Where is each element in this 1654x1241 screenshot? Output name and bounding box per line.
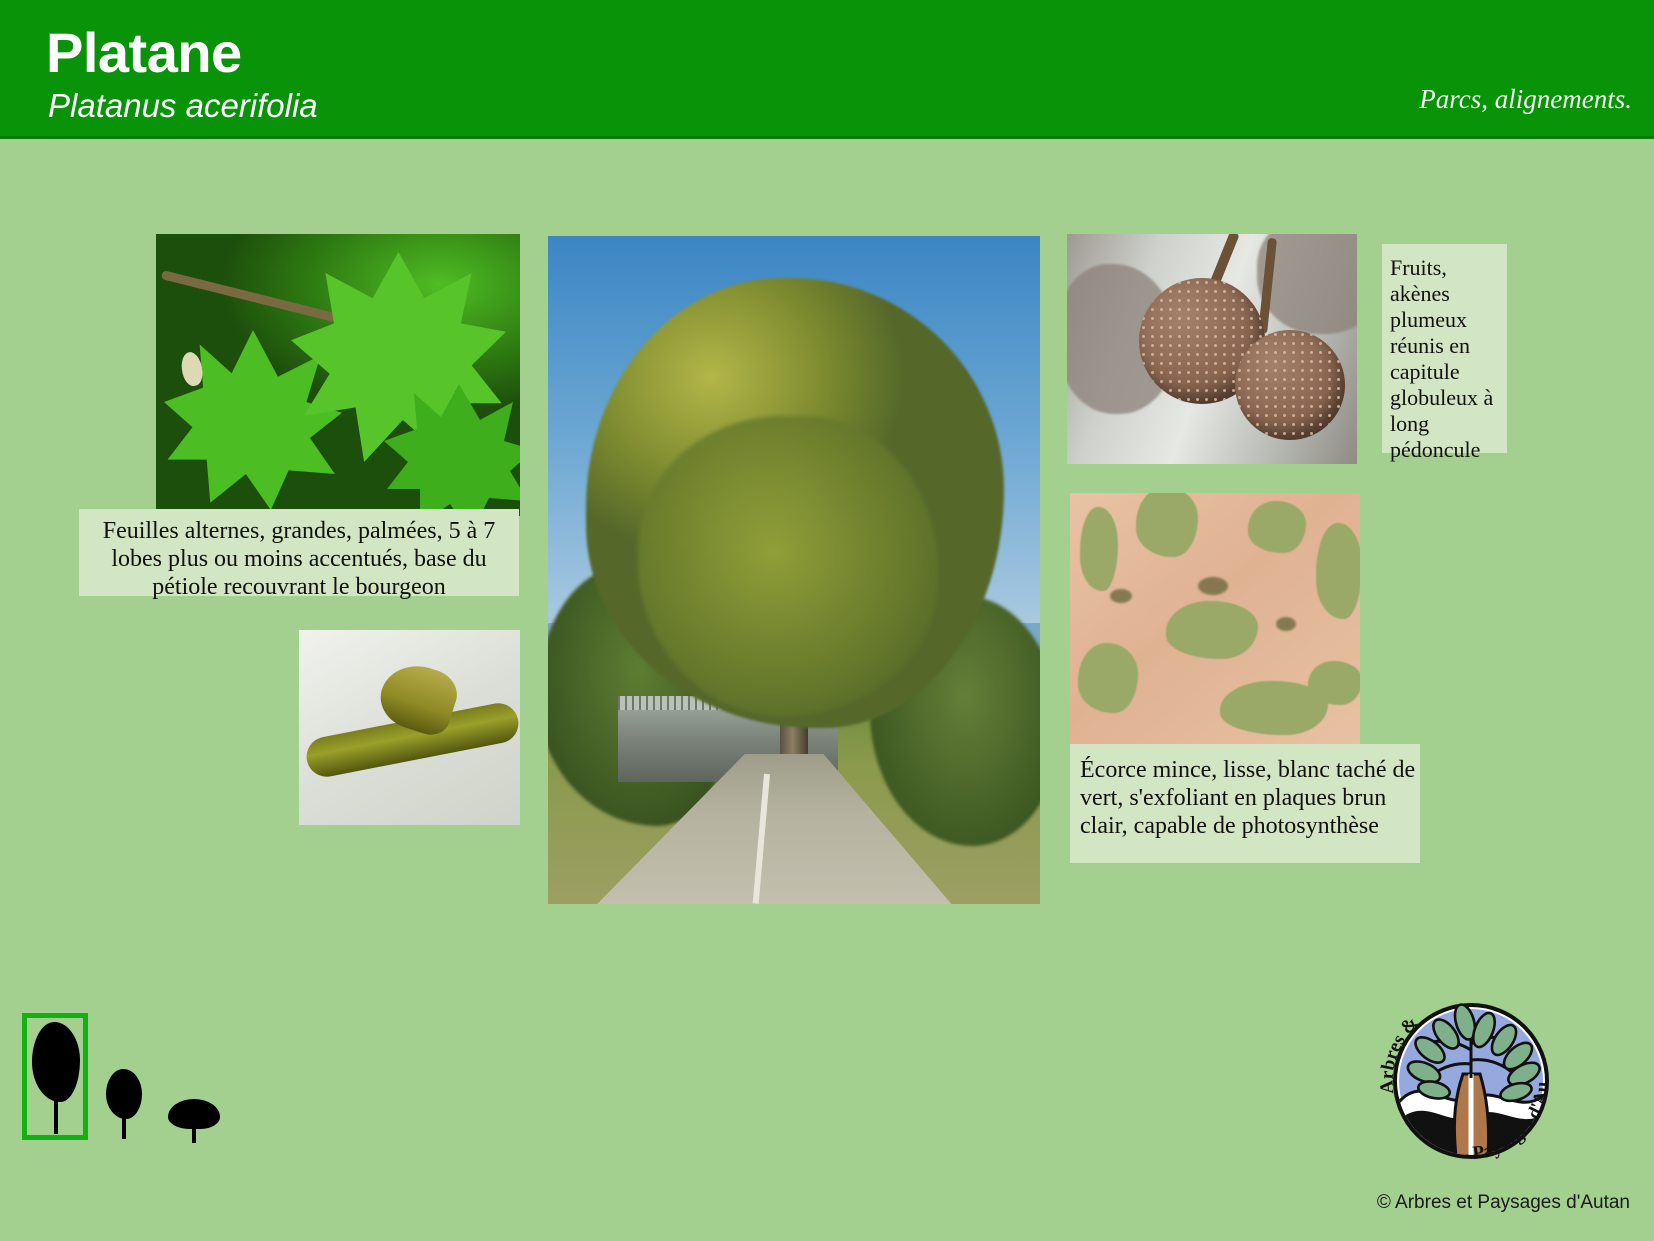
latin-name: Platanus acerifolia	[48, 88, 318, 124]
bark-green-patch	[1248, 501, 1306, 553]
fruits-caption: Fruits, akènes plumeux réunis en capitul…	[1382, 244, 1507, 453]
tree-photo	[548, 236, 1040, 904]
bud-photo	[299, 630, 520, 825]
bark-green-patch	[1166, 601, 1258, 659]
bark-dark-speck	[1198, 577, 1228, 595]
bark-photo	[1070, 493, 1360, 749]
copyright-notice: © Arbres et Paysages d'Autan	[1377, 1192, 1630, 1214]
logo-graphic: Arbres & Paysages d'Autan	[1368, 978, 1574, 1184]
tree-stem-shape	[122, 1115, 126, 1139]
bark-dark-speck	[1276, 617, 1296, 631]
tree-crown-shape	[106, 1069, 142, 1119]
bark-green-patch	[1308, 661, 1360, 705]
page-header: Platane Platanus acerifolia Parcs, align…	[0, 0, 1654, 139]
fruit-capitule	[1235, 330, 1345, 440]
bark-caption: Écorce mince, lisse, blanc taché de vert…	[1070, 744, 1420, 863]
bark-green-patch	[1078, 643, 1138, 713]
leaf-caption: Feuilles alternes, grandes, palmées, 5 à…	[79, 509, 519, 596]
bark-green-patch	[1080, 507, 1118, 591]
leaf-photo	[156, 234, 520, 516]
size-class-indicator	[22, 1013, 242, 1145]
size-class-large-tree-icon[interactable]	[34, 1024, 78, 1134]
tree-stem-shape	[54, 1094, 58, 1134]
bark-green-patch	[1136, 493, 1198, 557]
size-class-medium-tree-icon[interactable]	[106, 1069, 142, 1137]
page-title: Platane	[46, 24, 242, 82]
tree-canopy-lower	[638, 416, 938, 716]
tree-crown-shape	[34, 1024, 78, 1100]
fruits-photo	[1067, 234, 1357, 464]
usage-tagline: Parcs, alignements.	[1419, 84, 1632, 114]
size-class-shrub-icon[interactable]	[168, 1099, 220, 1143]
bark-dark-speck	[1110, 589, 1132, 603]
tree-stem-shape	[192, 1125, 196, 1143]
bark-green-patch	[1316, 523, 1360, 619]
arbres-et-paysages-dautan-logo: Arbres & Paysages d'Autan	[1368, 978, 1574, 1184]
